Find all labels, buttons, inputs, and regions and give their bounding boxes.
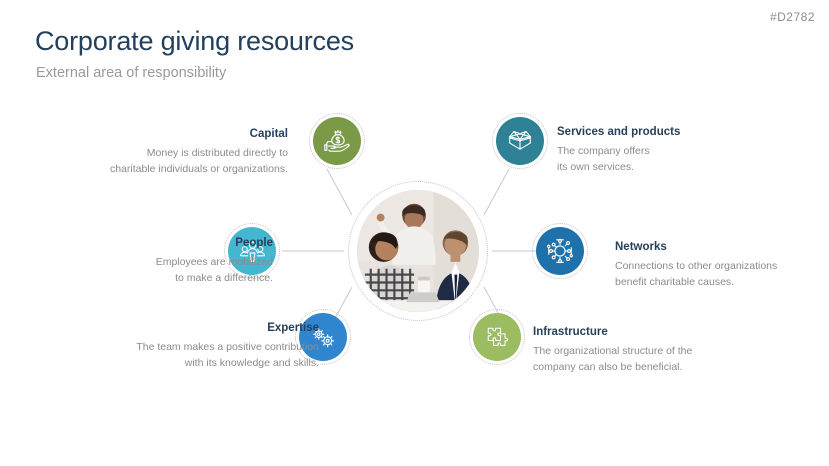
page-subtitle: External area of responsibility [36,65,226,81]
label-networks: Networks Connections to other organizati… [615,240,829,290]
node-services-and-products[interactable] [492,113,548,169]
slide: #D2782 Corporate giving resources Extern… [0,0,829,466]
node-description-line2: its own services. [557,160,797,176]
connector-services [484,169,509,215]
node-title: Expertise [79,321,319,336]
open-box-icon [505,126,535,156]
node-disc [313,117,361,165]
label-capital: Capital Money is distributed directly to… [58,127,288,177]
node-networks[interactable] [532,223,588,279]
connector-capital [327,169,352,215]
node-description-line1: The company offers [557,144,797,160]
label-expertise: Expertise The team makes a positive cont… [79,321,319,371]
node-description-line1: Money is distributed directly to [58,146,288,162]
node-description-line2: with its knowledge and skills. [79,356,319,372]
node-disc [473,313,521,361]
node-description-line2: company can also be beneficial. [533,360,783,376]
diagram-canvas: Capital Money is distributed directly to… [0,95,829,415]
label-people: People Employees are mobilized to make a… [83,236,273,286]
center-hub [348,181,488,321]
label-infrastructure: Infrastructure The organizational struct… [533,325,783,375]
node-infrastructure[interactable] [469,309,525,365]
network-nodes-gear-icon [545,236,575,266]
node-disc [496,117,544,165]
node-capital[interactable] [309,113,365,169]
node-description-line1: The organizational structure of the [533,344,783,360]
node-disc [536,227,584,275]
node-description-line1: The team makes a positive contribution [79,340,319,356]
node-description-line1: Employees are mobilized [83,255,273,271]
node-title: People [83,236,273,251]
puzzle-pieces-icon [483,323,511,351]
node-title: Infrastructure [533,325,783,340]
slide-code: #D2782 [770,10,815,24]
node-description-line2: charitable individuals or organizations. [58,162,288,178]
node-description-line2: to make a difference. [83,271,273,287]
node-description-line2: benefit charitable causes. [615,275,829,291]
node-description-line1: Connections to other organizations [615,259,829,275]
label-services-and-products: Services and products The company offers… [557,125,797,175]
money-bag-in-hand-icon [322,126,352,156]
page-title: Corporate giving resources [35,26,354,57]
node-title: Capital [58,127,288,142]
node-title: Networks [615,240,829,255]
team-photo [357,190,479,312]
node-title: Services and products [557,125,797,140]
